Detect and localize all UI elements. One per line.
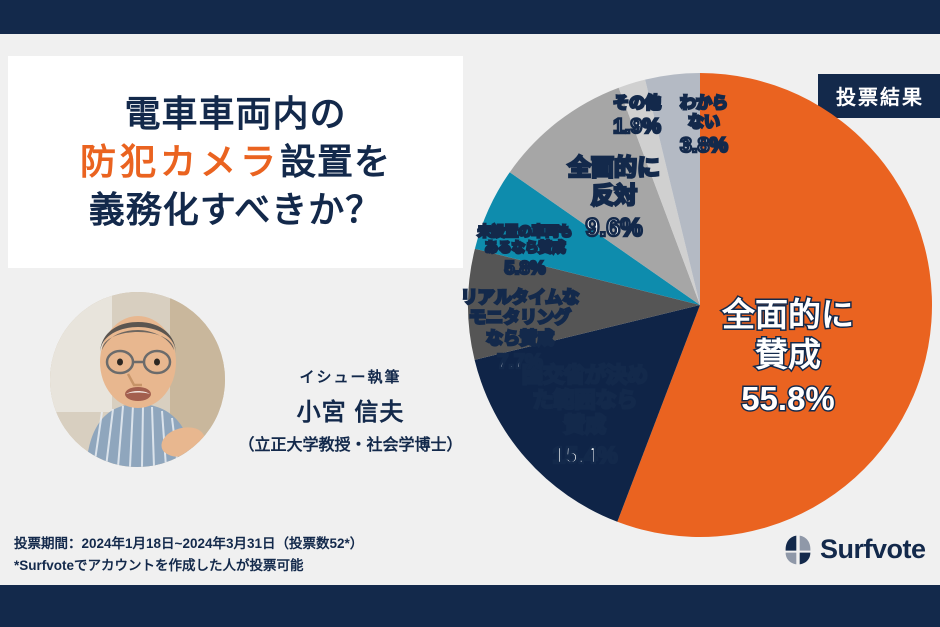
title-line-1: 電車車両内の — [124, 92, 346, 136]
slice-value: 7.7% — [445, 350, 595, 375]
surfvote-mark-icon — [785, 535, 811, 565]
slice-name-line: 全面的に — [549, 154, 679, 182]
slice-value: 5.8% — [455, 257, 595, 280]
pie-chart: 全面的に 賛成 55.8% 国交省が決め た範囲なら 賛成 15.4% リアルタ… — [455, 40, 940, 585]
author-name: 小宮 信夫 — [238, 392, 463, 427]
title-accent-text: 防犯カメラ — [80, 141, 280, 182]
slice-value: 15.4% — [505, 441, 665, 470]
slice-value: 9.6% — [549, 213, 679, 244]
avatar-illustration — [50, 292, 225, 467]
title-line-3: 義務化すべきか？ — [89, 188, 382, 232]
slice-label-full-agree: 全面的に 賛成 55.8% — [698, 295, 878, 419]
slice-name-line: 賛成 — [505, 413, 665, 438]
author-text: イシュー執筆 小宮 信夫 （立正大学教授・社会学博士） — [238, 366, 463, 455]
top-bar — [0, 0, 940, 34]
author-role: イシュー執筆 — [238, 366, 463, 387]
slice-name-line: ない — [661, 113, 747, 132]
author-block: イシュー執筆 小宮 信夫 （立正大学教授・社会学博士） — [8, 288, 463, 488]
slice-name-line: た範囲なら — [505, 388, 665, 413]
slice-name-line: モニタリング — [445, 308, 595, 328]
title-text-1: 電車車両内の — [124, 93, 346, 134]
voting-note: *Surfvoteでアカウントを作成した人が投票可能 — [14, 555, 363, 577]
slice-label-mlit-range: 国交省が決め た範囲なら 賛成 15.4% — [505, 363, 665, 469]
slice-value: 3.8% — [661, 133, 747, 159]
title-text-3: 義務化すべきか？ — [89, 189, 382, 230]
slice-name-line: なら賛成 — [445, 329, 595, 349]
slice-value: 55.8% — [698, 378, 878, 419]
surfvote-logo: Surfvote — [785, 534, 926, 565]
author-affiliation: （立正大学教授・社会学博士） — [238, 431, 463, 455]
title-card: 電車車両内の 防犯カメラ設置を 義務化すべきか？ — [8, 56, 463, 268]
slice-name-line: 全面的に — [698, 295, 878, 335]
slice-name-line: 賛成 — [698, 335, 878, 375]
slice-label-realtime-monitoring: リアルタイムな モニタリング なら賛成 7.7% — [445, 288, 595, 375]
slice-label-dont-know: わから ない 3.8% — [661, 94, 747, 160]
surfvote-wordmark: Surfvote — [820, 534, 926, 565]
title-text-2: 設置を — [280, 141, 391, 182]
voting-period: 投票期間：2024年1月18日~2024年3月31日（投票数52*） — [14, 533, 363, 555]
slice-label-full-oppose: 全面的に 反対 9.6% — [549, 154, 679, 244]
bottom-bar — [0, 585, 940, 627]
title-line-2: 防犯カメラ設置を — [80, 140, 391, 184]
slice-name-line: 反対 — [549, 182, 679, 210]
slice-name-line: リアルタイムな — [445, 288, 595, 308]
footnotes: 投票期間：2024年1月18日~2024年3月31日（投票数52*） *Surf… — [14, 533, 363, 578]
avatar — [50, 292, 225, 467]
slice-name-line: わから — [661, 94, 747, 113]
